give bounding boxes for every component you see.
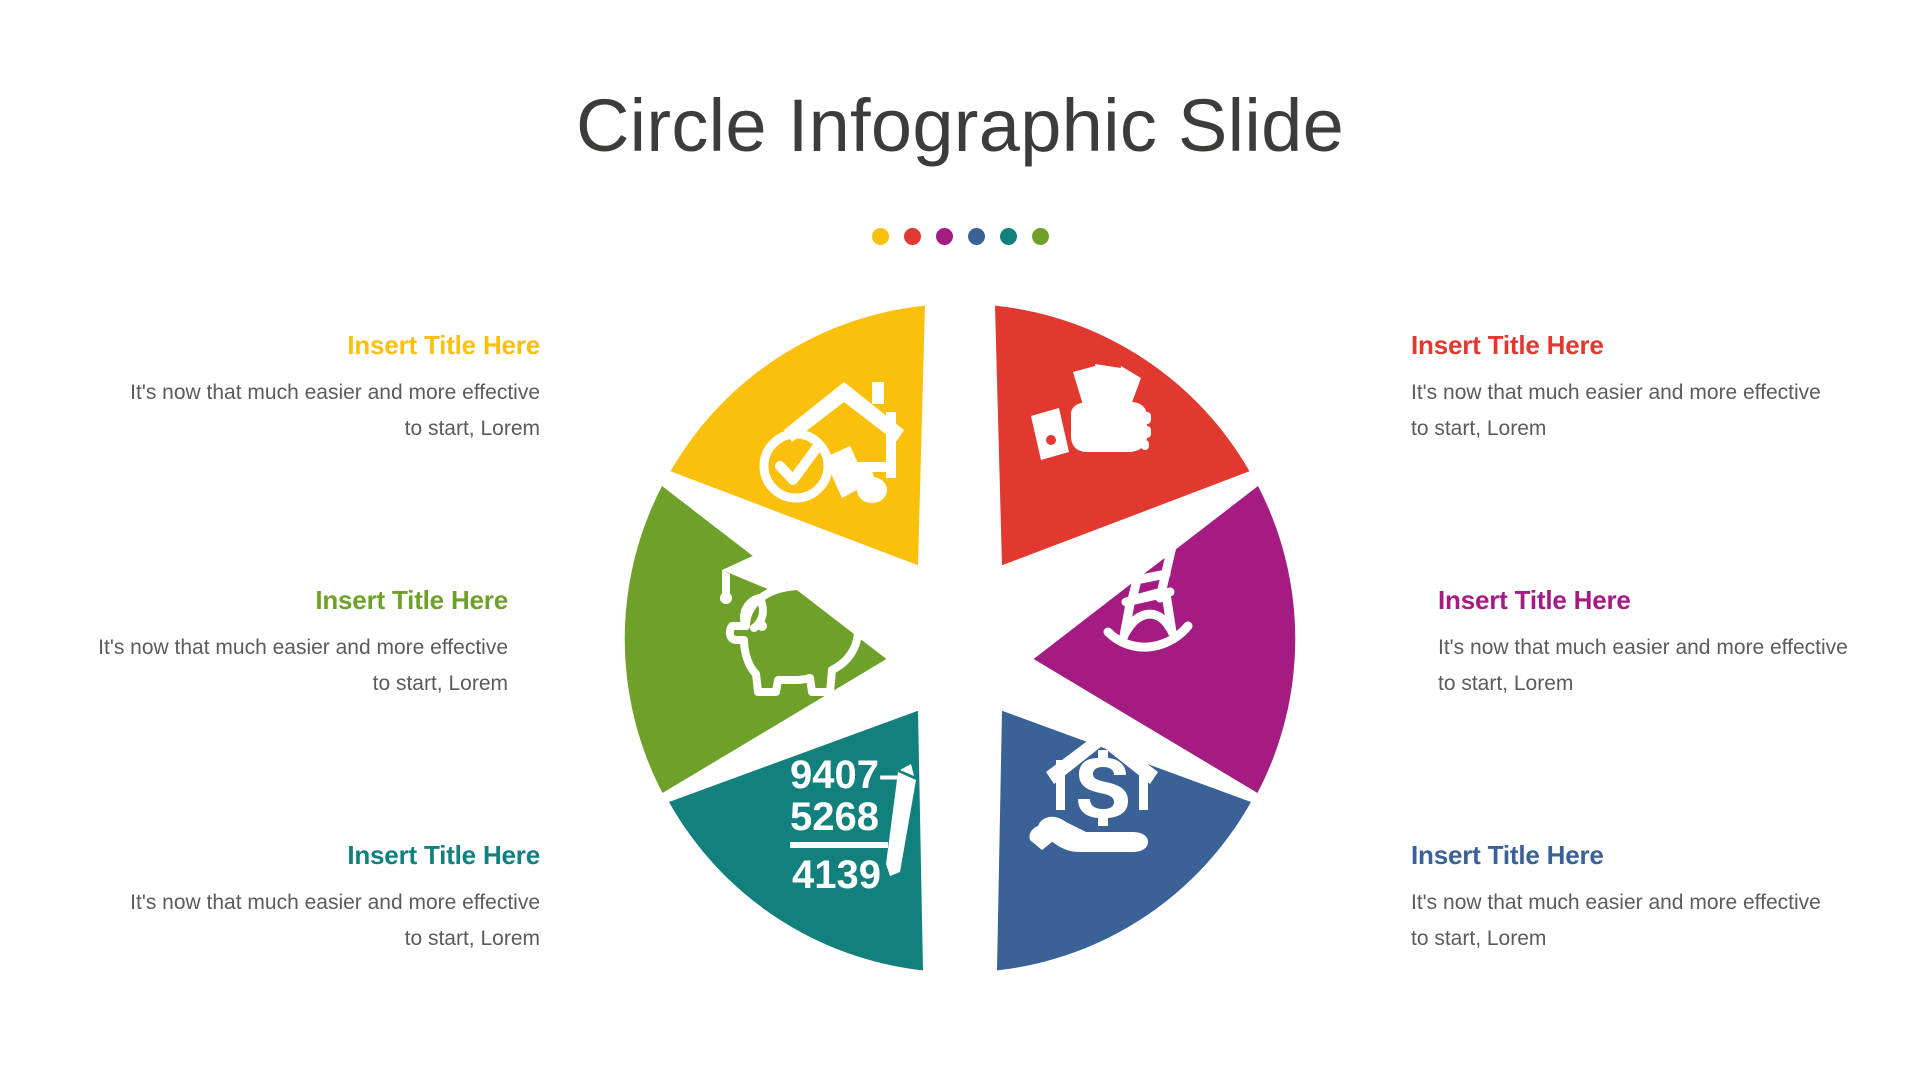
dot-row <box>0 228 1920 245</box>
wheel-svg: 9407– 5268 4139 <box>610 288 1310 988</box>
slide-canvas: Circle Infographic Slide <box>0 0 1920 1080</box>
circle-infographic-wheel: 9407– 5268 4139 <box>610 288 1310 988</box>
info-block-magenta: Insert Title Here It's now that much eas… <box>1438 585 1868 702</box>
info-block-red: Insert Title Here It's now that much eas… <box>1411 330 1841 447</box>
info-title-blue: Insert Title Here <box>1411 840 1841 871</box>
dot-yellow-icon <box>872 228 889 245</box>
calc-subtrahend: 5268 <box>790 795 879 839</box>
info-body-yellow: It's now that much easier and more effec… <box>110 375 540 447</box>
info-title-green: Insert Title Here <box>78 585 508 616</box>
info-title-teal: Insert Title Here <box>110 840 540 871</box>
info-block-green: Insert Title Here It's now that much eas… <box>78 585 508 702</box>
info-block-blue: Insert Title Here It's now that much eas… <box>1411 840 1841 957</box>
info-block-yellow: Insert Title Here It's now that much eas… <box>110 330 540 447</box>
info-title-yellow: Insert Title Here <box>110 330 540 361</box>
calc-rule <box>790 842 888 848</box>
info-title-red: Insert Title Here <box>1411 330 1841 361</box>
info-body-green: It's now that much easier and more effec… <box>78 630 508 702</box>
calc-result: 4139 <box>792 853 881 897</box>
dot-magenta-icon <box>936 228 953 245</box>
info-body-blue: It's now that much easier and more effec… <box>1411 885 1841 957</box>
info-block-teal: Insert Title Here It's now that much eas… <box>110 840 540 957</box>
page-title: Circle Infographic Slide <box>0 86 1920 166</box>
dot-teal-icon <box>1000 228 1017 245</box>
info-body-teal: It's now that much easier and more effec… <box>110 885 540 957</box>
dot-red-icon <box>904 228 921 245</box>
info-title-magenta: Insert Title Here <box>1438 585 1868 616</box>
title-block: Circle Infographic Slide <box>0 86 1920 166</box>
info-body-red: It's now that much easier and more effec… <box>1411 375 1841 447</box>
dot-green-icon <box>1032 228 1049 245</box>
info-body-magenta: It's now that much easier and more effec… <box>1438 630 1868 702</box>
dot-blue-icon <box>968 228 985 245</box>
calc-minuend: 9407– <box>790 753 901 797</box>
